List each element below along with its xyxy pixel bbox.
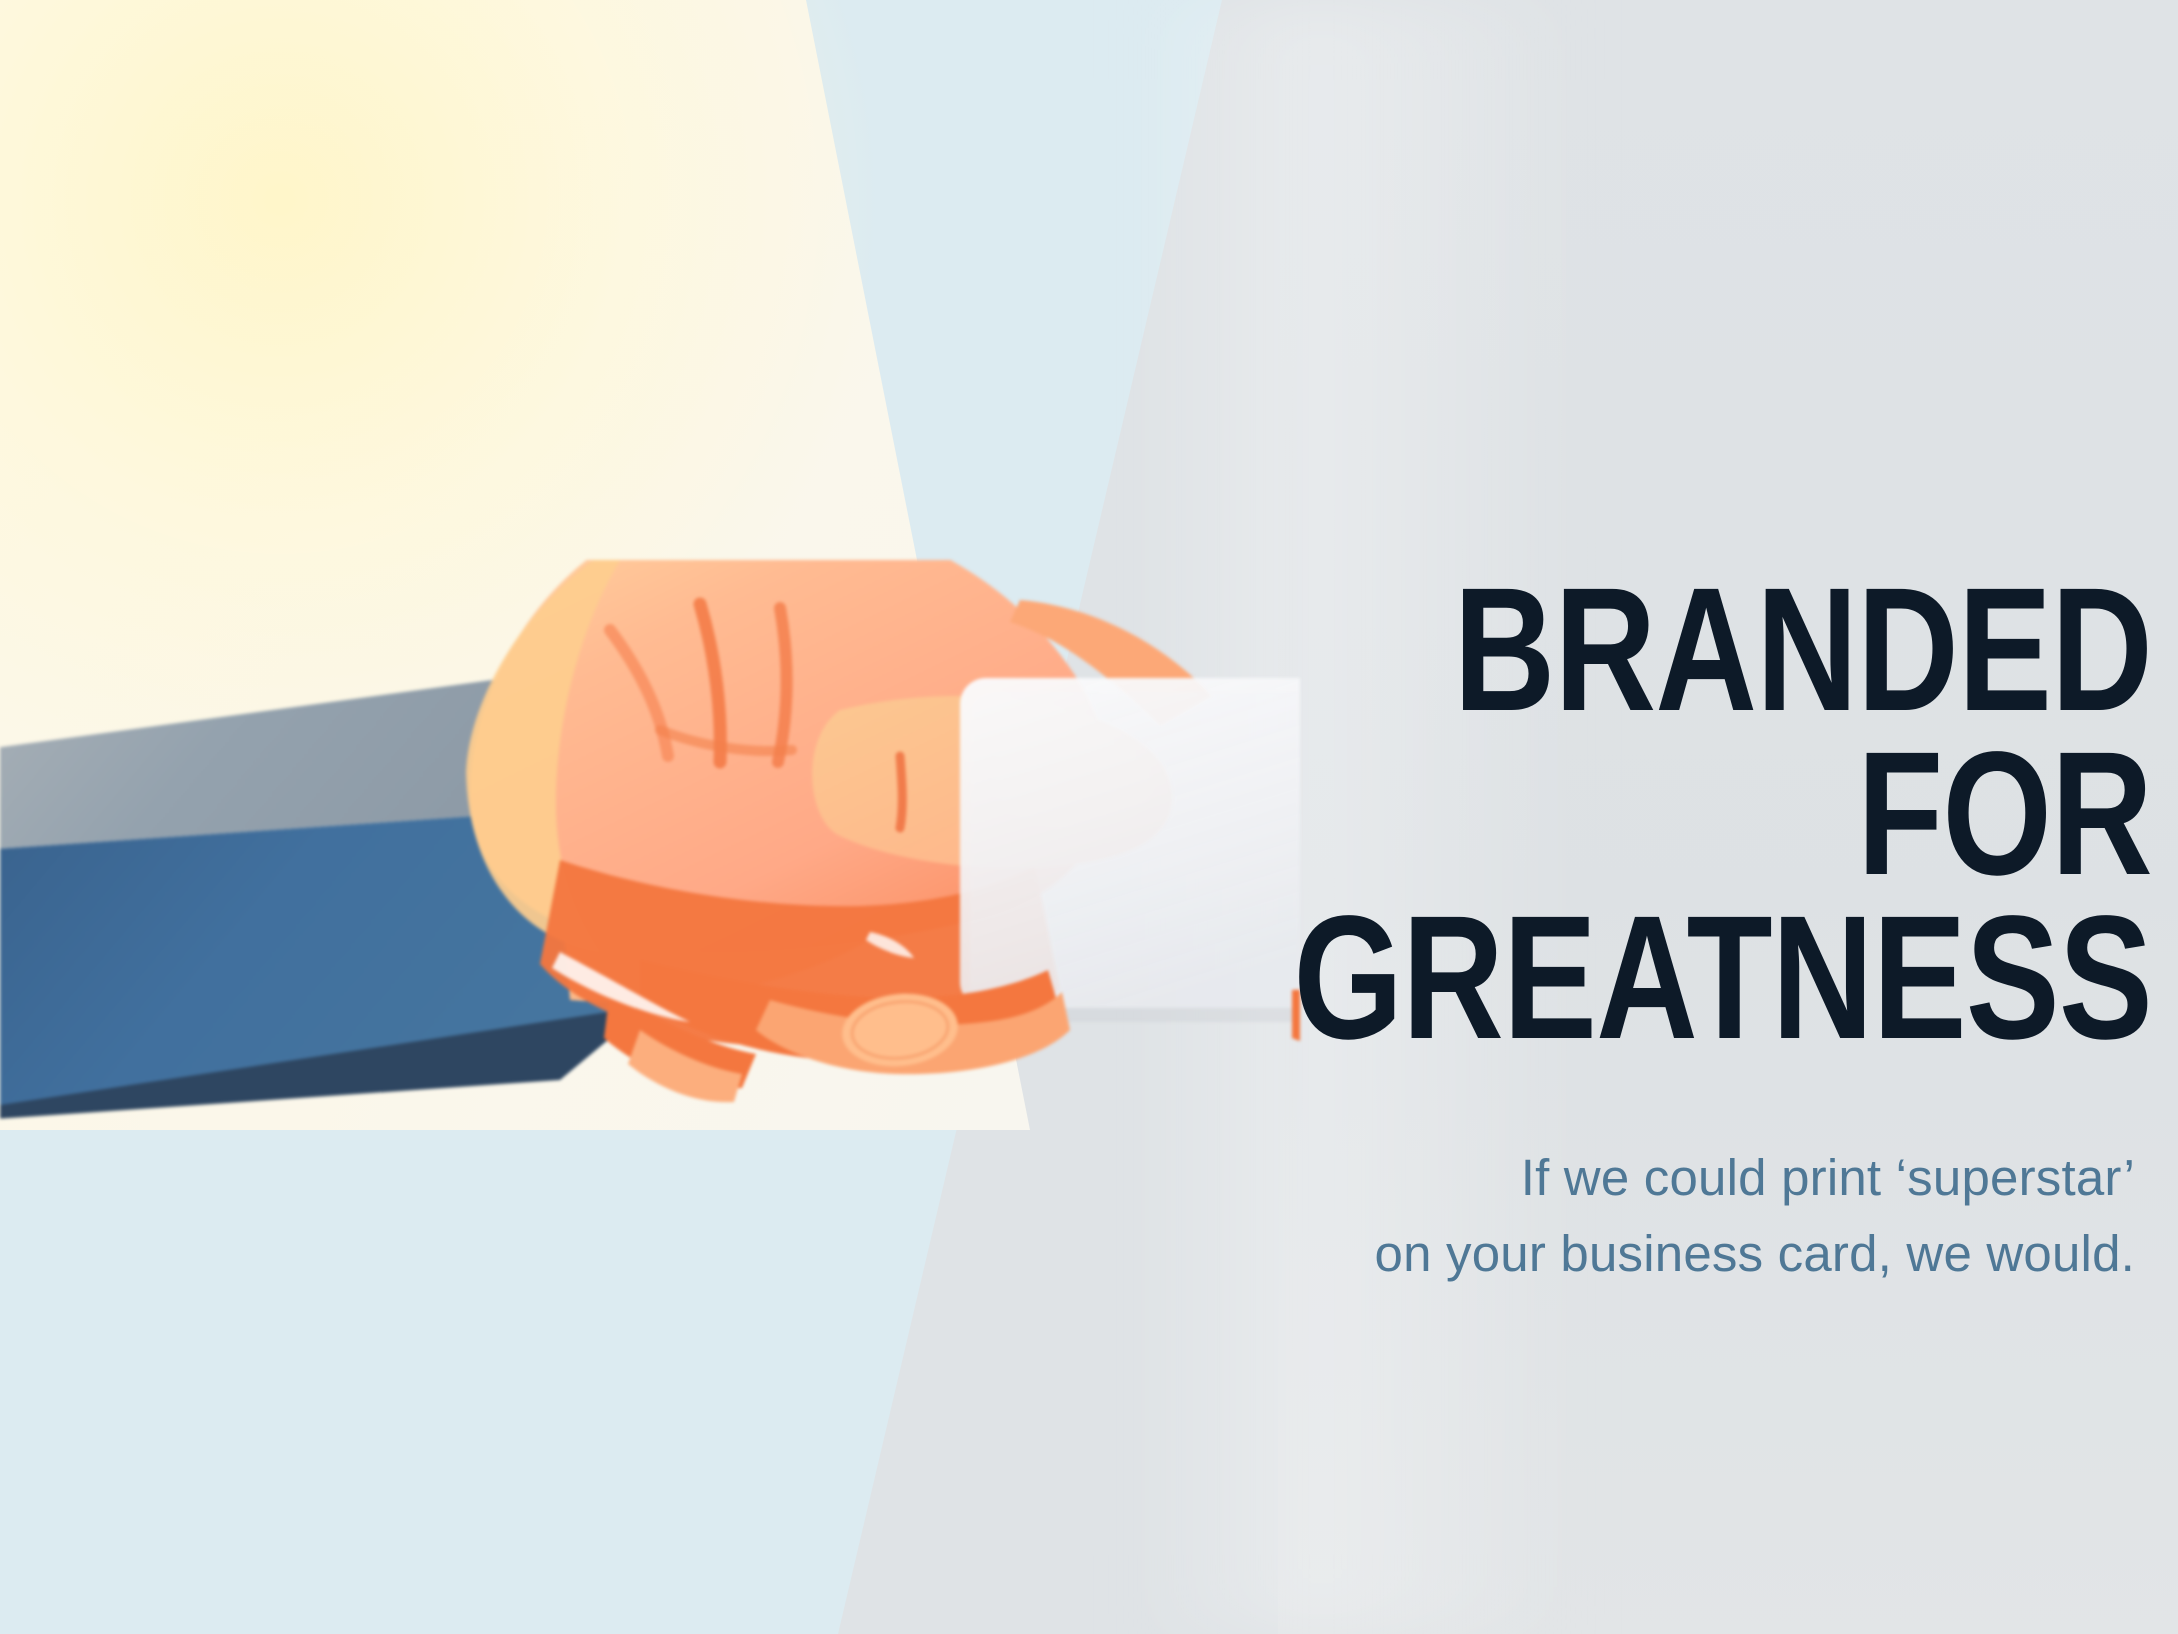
hand-holding-card-illustration bbox=[0, 560, 1300, 1380]
poster-canvas: BRANDED FOR GREATNESS If we could print … bbox=[0, 0, 2178, 1634]
